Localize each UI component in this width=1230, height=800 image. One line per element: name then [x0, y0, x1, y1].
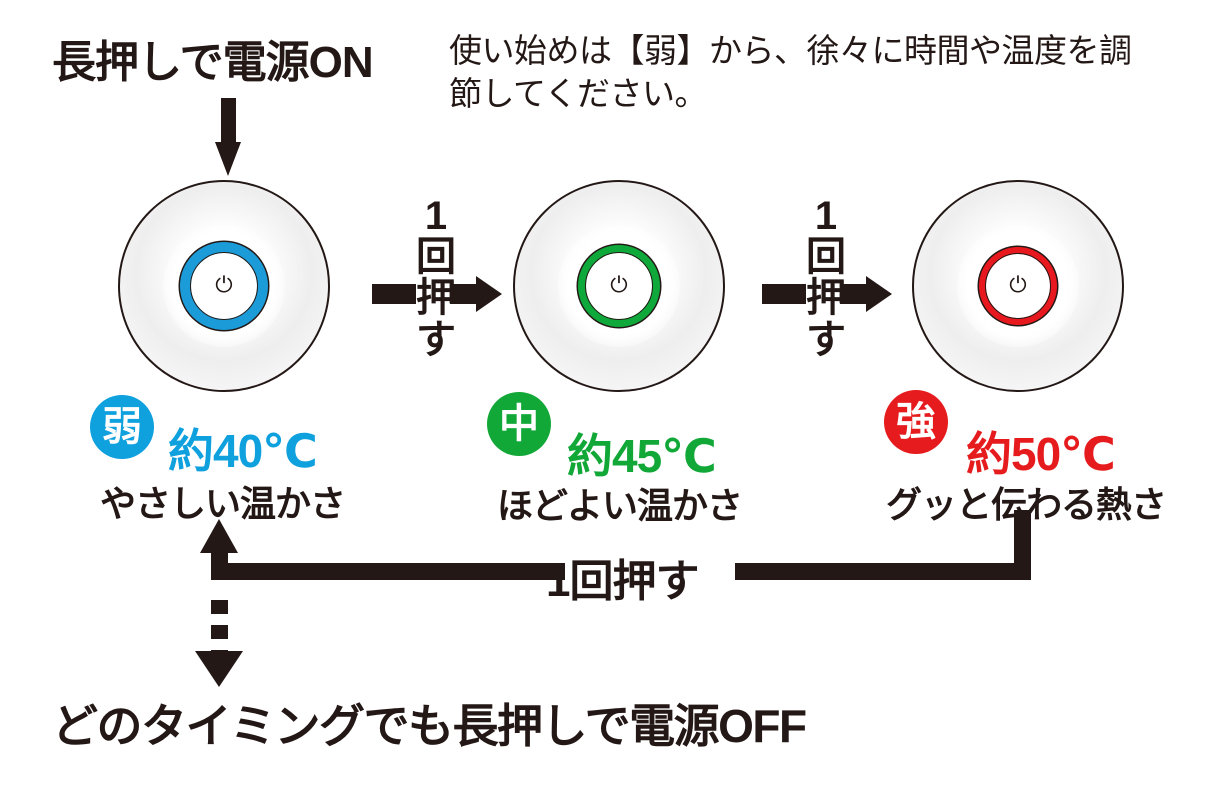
press-once-label-2: 1 回 押 す [800, 196, 852, 361]
arrow-down-icon [215, 98, 241, 176]
press-once-char-2: 回 [410, 237, 462, 278]
press-once-char-4: す [410, 320, 462, 361]
power-icon: ⏻ [1009, 275, 1026, 297]
loop-arrow-left-horizontal [219, 563, 565, 580]
power-ring-weak: ⏻ [180, 242, 268, 330]
level-badge-medium: 中 [487, 392, 551, 456]
press-once-char-1: 1 [800, 196, 852, 237]
device-illustration-medium: ⏻ [513, 180, 725, 392]
temperature-strong: 約50℃ [966, 418, 1115, 484]
level-badge-strong: 強 [884, 390, 948, 454]
loop-arrow-right-horizontal [735, 563, 1031, 580]
usage-note: 使い始めは【弱】から、徐々に時間や温度を調節してください。 [449, 30, 1149, 116]
press-once-label-1: 1 回 押 す [410, 196, 462, 361]
power-off-text: どのタイミングでも長押しで電源OFF [52, 690, 806, 756]
device-illustration-weak: ⏻ [118, 180, 330, 392]
temperature-weak: 約40℃ [168, 415, 317, 481]
press-once-char-3: 押 [410, 278, 462, 319]
press-once-char-2: 回 [800, 237, 852, 278]
dashed-arrow-head [195, 651, 243, 687]
diagram-canvas: 長押しで電源ON 使い始めは【弱】から、徐々に時間や温度を調節してください。 ⏻… [0, 0, 1230, 800]
description-medium: ほどよい温かさ [497, 477, 742, 529]
press-once-char-4: す [800, 320, 852, 361]
device-illustration-strong: ⏻ [912, 180, 1124, 392]
arrow-up-loop-icon [200, 519, 238, 553]
loop-press-once-label: 1回押す [546, 545, 698, 609]
power-ring-strong: ⏻ [979, 247, 1057, 325]
power-on-title: 長押しで電源ON [52, 26, 373, 90]
level-badge-weak: 弱 [90, 395, 154, 459]
transition-press-once-2: 1 回 押 す [762, 196, 892, 392]
power-icon: ⏻ [610, 275, 627, 297]
transition-press-once-1: 1 回 押 す [372, 196, 502, 392]
press-once-char-3: 押 [800, 278, 852, 319]
power-ring-medium: ⏻ [578, 245, 660, 327]
power-icon: ⏻ [215, 275, 232, 297]
press-once-char-1: 1 [410, 196, 462, 237]
